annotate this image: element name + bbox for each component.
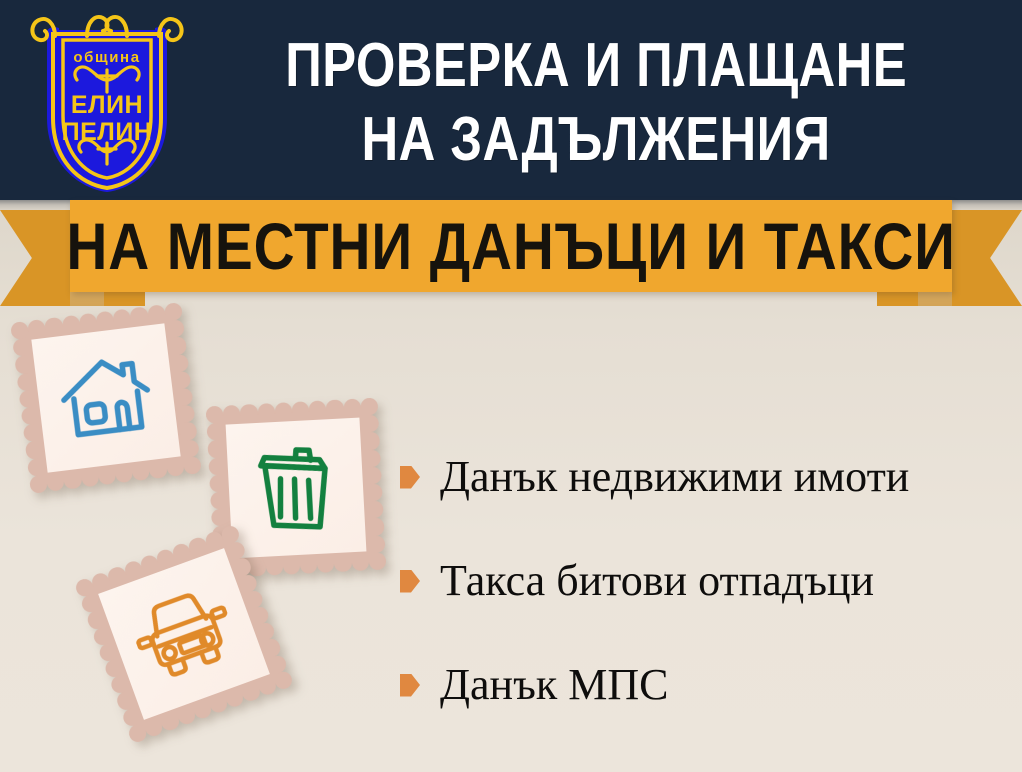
house-icon — [55, 350, 157, 447]
poster-root: община ЕЛИН ПЕЛИН ПРОВЕРКА И ПЛАЩАНЕ НА … — [0, 0, 1022, 772]
title-line-2: НА ЗАДЪЛЖЕНИЯ — [361, 103, 830, 177]
crest-town-line1: ЕЛИН — [71, 91, 143, 119]
ribbon-banner: НА МЕСТНИ ДАНЪЦИ И ТАКСИ — [0, 196, 1022, 308]
list-item[interactable]: Такса битови отпадъци — [400, 529, 1010, 633]
stamp-house — [10, 302, 202, 494]
stamp-scallop — [300, 556, 318, 574]
tax-type-list: Данък недвижими имоти Такса битови отпад… — [400, 425, 1010, 737]
list-item-label: Данък МПС — [440, 661, 668, 709]
stamp-paper — [31, 323, 180, 472]
stamp-scallop — [365, 483, 383, 501]
stamp-scallop — [178, 422, 197, 441]
stamp-scallop — [351, 553, 369, 571]
bullet-arrow-icon — [400, 570, 420, 593]
trash-bin-icon — [255, 442, 337, 534]
crest-community-label: община — [73, 49, 140, 66]
stamp-paper — [226, 418, 367, 559]
bullet-arrow-icon — [400, 466, 420, 489]
stamp-scallop — [63, 470, 82, 489]
stamp-scallop — [363, 449, 381, 467]
stamp-scallop — [265, 558, 283, 576]
car-icon — [126, 581, 243, 687]
bullet-arrow-icon — [400, 674, 420, 697]
stamp-scallop — [149, 460, 168, 479]
stamp-scallop — [168, 336, 187, 355]
stamp-scallop — [334, 554, 352, 572]
stamp-scallop — [183, 456, 202, 475]
ribbon-label: НА МЕСТНИ ДАНЪЦИ И ТАКСИ — [66, 213, 955, 279]
stamp-scallop — [367, 518, 385, 536]
page-title: ПРОВЕРКА И ПЛАЩАНЕ НА ЗАДЪЛЖЕНИЯ — [190, 18, 1002, 188]
list-item-label: Такса битови отпадъци — [440, 557, 874, 605]
stamp-scallop — [368, 552, 386, 570]
stamp-scallop — [364, 466, 382, 484]
title-line-1: ПРОВЕРКА И ПЛАЩАНЕ — [285, 29, 907, 103]
list-item-label: Данък недвижими имоти — [440, 453, 909, 501]
stamp-scallop — [360, 398, 378, 416]
list-item[interactable]: Данък МПС — [400, 633, 1010, 737]
list-item[interactable]: Данък недвижими имоти — [400, 425, 1010, 529]
stamp-scallop — [362, 432, 380, 450]
stamp-scallop — [282, 557, 300, 575]
ribbon-main: НА МЕСТНИ ДАНЪЦИ И ТАКСИ — [70, 200, 952, 292]
stamp-scallop — [367, 535, 385, 553]
coat-of-arms-icon: община ЕЛИН ПЕЛИН — [25, 6, 189, 192]
stamp-group — [0, 290, 420, 760]
stamp-scalloped-edge — [206, 398, 378, 407]
